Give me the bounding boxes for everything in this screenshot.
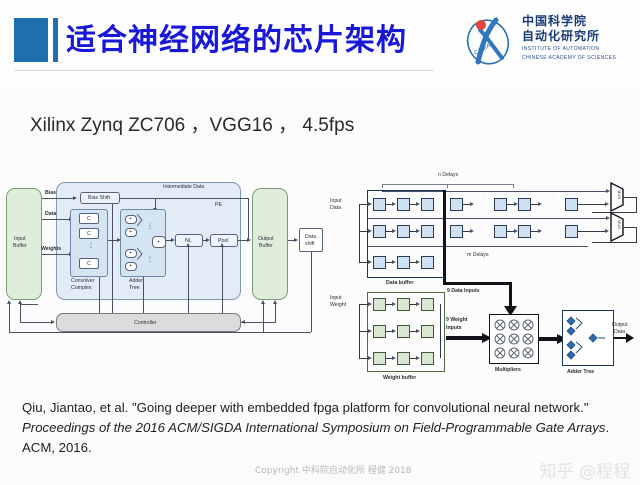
- inter-to-out-wire: [248, 198, 249, 240]
- ctrl-right-up: [275, 304, 276, 323]
- ctrl-feed-4-arrow: [186, 243, 190, 247]
- input-buffer-label-1: Input: [14, 236, 26, 242]
- w-r2-in-arrow: [368, 329, 372, 333]
- pe-label: PE: [215, 202, 222, 208]
- adder-cell-3-label: +: [129, 250, 132, 256]
- mux-1-label: MUX: [617, 190, 622, 199]
- copyright-watermark: Copyright 中科院自动化所 程健 2018: [255, 463, 411, 476]
- adder-cell-2-label: +: [129, 229, 132, 235]
- delay-r1c1: [450, 198, 463, 211]
- dl-r1-a2: [514, 202, 518, 206]
- d-r1-a1: [392, 202, 396, 206]
- adder-ellipsis-2: ⋮: [147, 256, 153, 263]
- weight-trunk: [446, 336, 484, 340]
- delay-r1c4: [565, 198, 578, 211]
- signal-weights-label: Weights: [41, 246, 61, 252]
- data-cell-r3c2: [397, 256, 410, 269]
- dl-r2-a1: [470, 229, 474, 233]
- ctrl-right-wire: [241, 322, 275, 323]
- w-r2-a1: [392, 329, 396, 333]
- dl-r1-dots: ⋮: [482, 192, 487, 198]
- weight-inputs-label-2: Inputs: [446, 325, 462, 331]
- dl-r2-a2: [514, 229, 518, 233]
- data-cell-r2c3: [421, 225, 434, 238]
- ctrl-feed-5-arrow: [220, 243, 224, 247]
- convolver-label-2: Complex: [71, 285, 91, 291]
- d-r3-a2: [416, 260, 420, 264]
- logo-en-line2: CHINESE ACADEMY OF SCIENCES: [522, 55, 622, 62]
- slide: 适合神经网络的芯片架构 CASIA 中国科学院 自动化研究所 INSTITUTE…: [0, 0, 640, 485]
- logo-en-line1: INSTITUTE OF AUTOMATION: [522, 46, 622, 53]
- data-trunk-h: [443, 282, 511, 285]
- data-wire: [42, 219, 70, 220]
- convolver-label-1: Convolver: [71, 278, 94, 284]
- adder-merge-icon-2: [137, 248, 147, 260]
- dl-r1-a3: [538, 202, 542, 206]
- m-delays-label: m Delays: [467, 252, 489, 258]
- weights-wire: [42, 254, 70, 255]
- data-cell-r1c2: [397, 198, 410, 211]
- weight-cell-r2c2: [397, 325, 410, 338]
- dl-r1-a1: [470, 202, 474, 206]
- ctrl-feed-5: [222, 247, 223, 313]
- ctrl-feed-1: [99, 277, 100, 313]
- mux2-out-v: [636, 227, 637, 242]
- mux-bus-mid: [368, 218, 608, 219]
- data-inputs-label: 9 Data Inputs: [447, 288, 480, 294]
- mux-bus-top: [382, 191, 608, 192]
- data-trunk-down: [509, 282, 512, 308]
- mult-to-adder-trunk: [539, 337, 559, 341]
- data-buffer-label: Data buffer: [386, 280, 413, 286]
- header-divider: [14, 70, 434, 71]
- d-r1-a2: [416, 202, 420, 206]
- ctrl-left-arrow: [51, 320, 55, 324]
- figure-caption: Qiu, Jiantao, et al. "Going deeper with …: [22, 398, 622, 458]
- ctrl-to-inbuf-arrow: [18, 300, 22, 304]
- w-r2-a2: [416, 329, 420, 333]
- bias-wire: [42, 198, 74, 199]
- sum-to-nl-arrow: [171, 238, 175, 242]
- caption-part1: Qiu, Jiantao, et al. "Going deeper with …: [22, 400, 589, 415]
- output-buffer-label-1: Output: [258, 236, 274, 242]
- data-cell-r3c1: [373, 256, 386, 269]
- intermediate-data-wire: [120, 198, 248, 199]
- n-delays-bracket-r: [513, 184, 514, 188]
- output-data-label-2: Data: [614, 329, 625, 335]
- mux1-out-v: [636, 197, 637, 212]
- delay-r1c2: [494, 198, 507, 211]
- dl-r2-to-mux-arrow: [605, 229, 609, 233]
- ctrl-left-wire: [20, 322, 52, 323]
- caption-italic: Proceedings of the 2016 ACM/SIGDA Intern…: [22, 420, 605, 435]
- data-cell-r2c1: [373, 225, 386, 238]
- w-ret-2: [440, 331, 441, 358]
- logo-cn-line2: 自动化研究所: [522, 29, 622, 44]
- w-r1-in-arrow: [368, 302, 372, 306]
- ctrl-left-top: [20, 304, 38, 305]
- delay-r2c3: [518, 225, 531, 238]
- weight-cell-r3c3: [421, 352, 434, 365]
- shift-feedback-left: [9, 332, 311, 333]
- adder-sum-label: +: [157, 239, 160, 245]
- casia-logo: CASIA 中国科学院 自动化研究所 INSTITUTE OF AUTOMATI…: [462, 8, 622, 80]
- subtitle-spec: Xilinx Zynq ZC706 ，VGG16 ， 4.5fps: [30, 110, 354, 137]
- weight-cell-r3c2: [397, 352, 410, 365]
- output-buffer-label-2: Buffer: [259, 243, 273, 249]
- data-cell-r1c1: [373, 198, 386, 211]
- weight-cell-r2c1: [373, 325, 386, 338]
- w-r1-a1: [392, 302, 396, 306]
- weight-cell-r1c1: [373, 298, 386, 311]
- data-trunk-v: [443, 190, 446, 285]
- delay-r2c2: [494, 225, 507, 238]
- intermediate-data-label: Intermediate Data: [163, 184, 204, 190]
- outbuf-feedback-arrow: [261, 300, 265, 304]
- input-data-label-1: Input: [330, 198, 342, 204]
- dl-r1-dots2: ⋮: [551, 192, 556, 198]
- n-delays-bracket: [382, 184, 514, 185]
- ctrl-feed-3: [143, 277, 144, 313]
- mux-bus-low: [368, 246, 588, 247]
- w-left-bus: [359, 304, 360, 358]
- w-ret-1: [440, 304, 441, 331]
- d-r2-a1: [392, 229, 396, 233]
- d-r2-a2: [416, 229, 420, 233]
- multipliers-label: Multipliers: [495, 367, 521, 373]
- title-accent-block: [14, 18, 48, 62]
- n-delays-bracket-l: [382, 184, 383, 188]
- data-shift-label-1: Data: [305, 234, 316, 240]
- adder-tree-ellipsis: ⋮: [588, 334, 593, 340]
- ctrl-feed-2: [112, 204, 113, 313]
- adder-merge-icon-1: [137, 214, 147, 226]
- data-cell-r3c3: [421, 256, 434, 269]
- w-r3-in-arrow: [368, 356, 372, 360]
- ctrl-left-up: [20, 304, 21, 323]
- output-data-label-1: Output: [612, 322, 628, 328]
- adder-tree-label-1: Adder: [129, 278, 143, 284]
- adder-out-arrow: [626, 333, 635, 343]
- figure-area: PE Input Buffer Bias Data Weights Bias S…: [0, 170, 640, 385]
- dl-r2-a3: [538, 229, 542, 233]
- weight-cell-r1c3: [421, 298, 434, 311]
- d-r2-in-arrow: [368, 229, 372, 233]
- controller-label: Controller: [134, 320, 157, 326]
- dl-r1-to-mux: [578, 204, 606, 205]
- n-delays-bracket-m: [447, 184, 448, 188]
- mux2-fb: [592, 242, 637, 243]
- input-weight-label-1: Input: [330, 295, 342, 301]
- casia-logo-icon: CASIA: [462, 12, 518, 68]
- weight-cell-r1c2: [397, 298, 410, 311]
- signal-bias-label: Bias: [45, 190, 56, 196]
- zhihu-watermark: 知乎 @程程: [540, 457, 630, 482]
- delay-r1c3: [518, 198, 531, 211]
- delay-r2c1: [450, 225, 463, 238]
- page-title: 适合神经网络的芯片架构: [66, 22, 407, 60]
- shift-feedback-down: [311, 252, 312, 332]
- conv-cell-2-label: C: [87, 231, 91, 237]
- bias-shift-label: Bias Shift: [88, 195, 110, 201]
- w-r3-a2: [416, 356, 420, 360]
- d-r3-in-arrow: [368, 260, 372, 264]
- dl-r2-to-mux: [578, 231, 606, 232]
- casia-logo-text: 中国科学院 自动化研究所 INSTITUTE OF AUTOMATION CHI…: [522, 14, 622, 62]
- ctrl-feed-4: [188, 247, 189, 313]
- ctrl-right-arrow: [241, 320, 245, 324]
- conv-ellipsis: ⋮: [88, 242, 94, 249]
- slide-header: 适合神经网络的芯片架构 CASIA 中国科学院 自动化研究所 INSTITUTE…: [0, 0, 640, 88]
- adder-tree-label-2: Tree: [129, 285, 139, 291]
- d-r1-in-arrow: [368, 202, 372, 206]
- w-r3-a1: [392, 356, 396, 360]
- delay-r2c4: [565, 225, 578, 238]
- n-delays-label: n Delays: [438, 172, 458, 178]
- conv-to-adder-arrow: [117, 238, 121, 242]
- d-left-bus: [359, 204, 360, 262]
- ctrl-to-outbuf-arrow: [273, 300, 277, 304]
- data-cell-r2c2: [397, 225, 410, 238]
- weight-buffer-label: Weight buffer: [383, 375, 416, 381]
- adder-tree-right-label: Adder Tree: [567, 369, 594, 375]
- adder-ellipsis-1: ⋮: [147, 223, 153, 230]
- shift-feedback-up: [9, 304, 10, 332]
- input-weight-label-2: Weight: [330, 302, 346, 308]
- mux-2-label: MUX: [617, 220, 622, 229]
- multiplier-cells-icon: [492, 317, 536, 361]
- nl-to-pool-arrow: [206, 238, 210, 242]
- data-shift-block: [299, 228, 323, 252]
- dl-r1-to-mux-arrow: [605, 202, 609, 206]
- adder-cell-1-label: +: [129, 216, 132, 222]
- mux1-out-h: [623, 197, 637, 198]
- outbuf-feedback: [263, 304, 264, 332]
- adder-cell-4-label: +: [129, 263, 132, 269]
- w-r1-a2: [416, 302, 420, 306]
- input-buffer-label-2: Buffer: [13, 243, 27, 249]
- data-shift-label-2: shift: [305, 241, 315, 247]
- weight-inputs-label-1: 9 Weight: [446, 317, 468, 323]
- conv-cell-3-label: C: [87, 261, 91, 267]
- conv-cell-1-label: C: [87, 216, 91, 222]
- signal-data-label: Data: [45, 211, 56, 217]
- d-r3-a1: [392, 260, 396, 264]
- title-accent-bar: [53, 18, 58, 62]
- out-to-shift-arrow: [294, 238, 298, 242]
- weight-cell-r2c3: [421, 325, 434, 338]
- shift-feedback-arrow: [7, 300, 11, 304]
- mux2-out-h: [623, 227, 637, 228]
- data-cell-r1c3: [421, 198, 434, 211]
- weight-cell-r3c1: [373, 352, 386, 365]
- logo-cn-line1: 中国科学院: [522, 14, 622, 29]
- bias-arrow: [73, 196, 77, 200]
- input-data-label-2: Data: [330, 205, 341, 211]
